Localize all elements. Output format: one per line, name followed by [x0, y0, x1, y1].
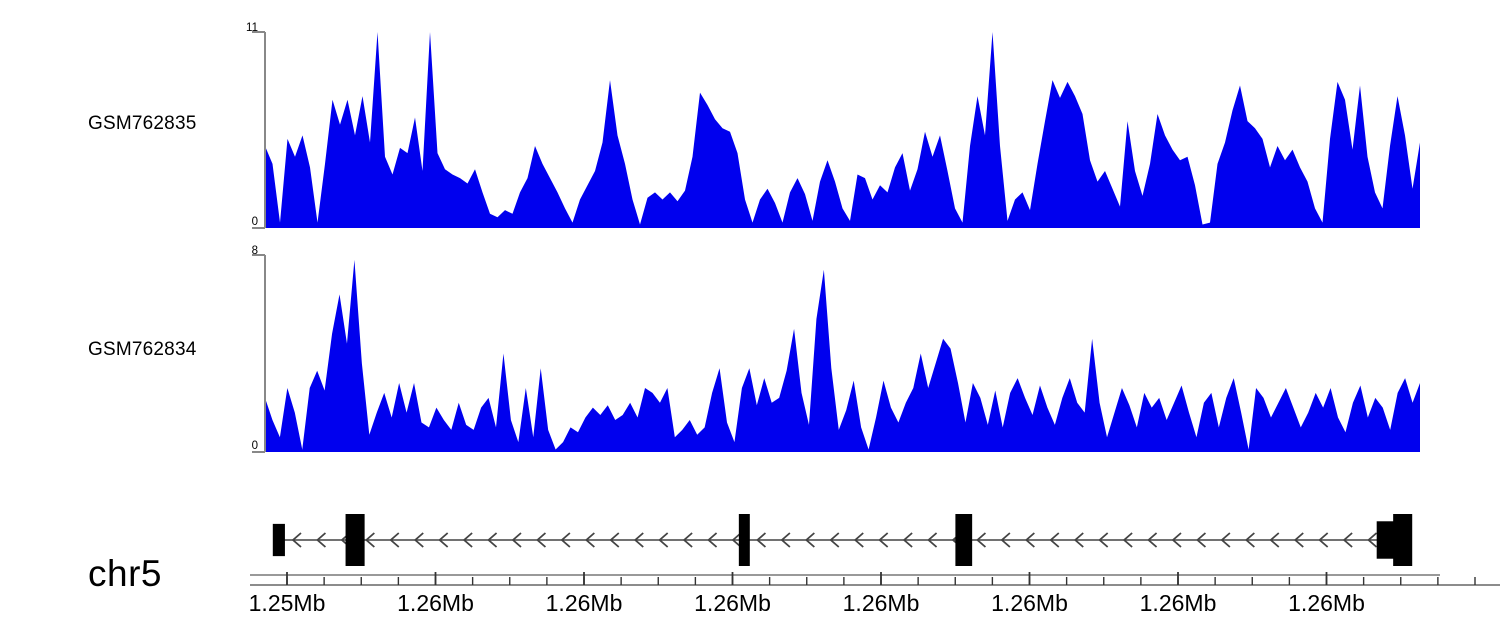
gene-model[interactable] [265, 505, 1420, 575]
axis-ruler [250, 572, 1500, 592]
axis-tick-label: 1.26Mb [843, 590, 920, 617]
coverage-track-GSM762834: GSM762834 8 0 [0, 236, 1500, 471]
exon-block[interactable] [346, 514, 365, 566]
axis-tick-label: 1.25Mb [249, 590, 326, 617]
axis-tick-label: 1.26Mb [397, 590, 474, 617]
axis-tick-marks [287, 572, 1475, 585]
y-axis-bracket [250, 251, 268, 456]
genome-browser: GSM762835 11 0 GSM762834 8 0 [0, 0, 1500, 640]
chromosome-label: chr5 [88, 553, 162, 595]
axis-tick-label: 1.26Mb [991, 590, 1068, 617]
track-label: GSM762835 [88, 113, 196, 135]
coverage-plot [265, 32, 1420, 228]
coverage-area-chart [265, 255, 1420, 452]
axis-tick-label: 1.26Mb [546, 590, 623, 617]
axis-tick-label: 1.26Mb [1140, 590, 1217, 617]
exon-block[interactable] [273, 524, 285, 556]
axis-tick-label: 1.26Mb [1288, 590, 1365, 617]
track-label: GSM762834 [88, 339, 196, 361]
axis-tick-label: 1.26Mb [694, 590, 771, 617]
y-axis-bracket [250, 28, 268, 232]
gene-annotation-track[interactable] [265, 505, 1420, 575]
exon-block[interactable] [1393, 514, 1412, 566]
exon-block[interactable] [739, 514, 750, 566]
coverage-plot [265, 255, 1420, 452]
coverage-track-GSM762835: GSM762835 11 0 [0, 0, 1500, 235]
coverage-area-chart [265, 32, 1420, 228]
exon-block[interactable] [955, 514, 972, 566]
genomic-axis[interactable]: 1.25Mb1.26Mb1.26Mb1.26Mb1.26Mb1.26Mb1.26… [250, 572, 1500, 640]
